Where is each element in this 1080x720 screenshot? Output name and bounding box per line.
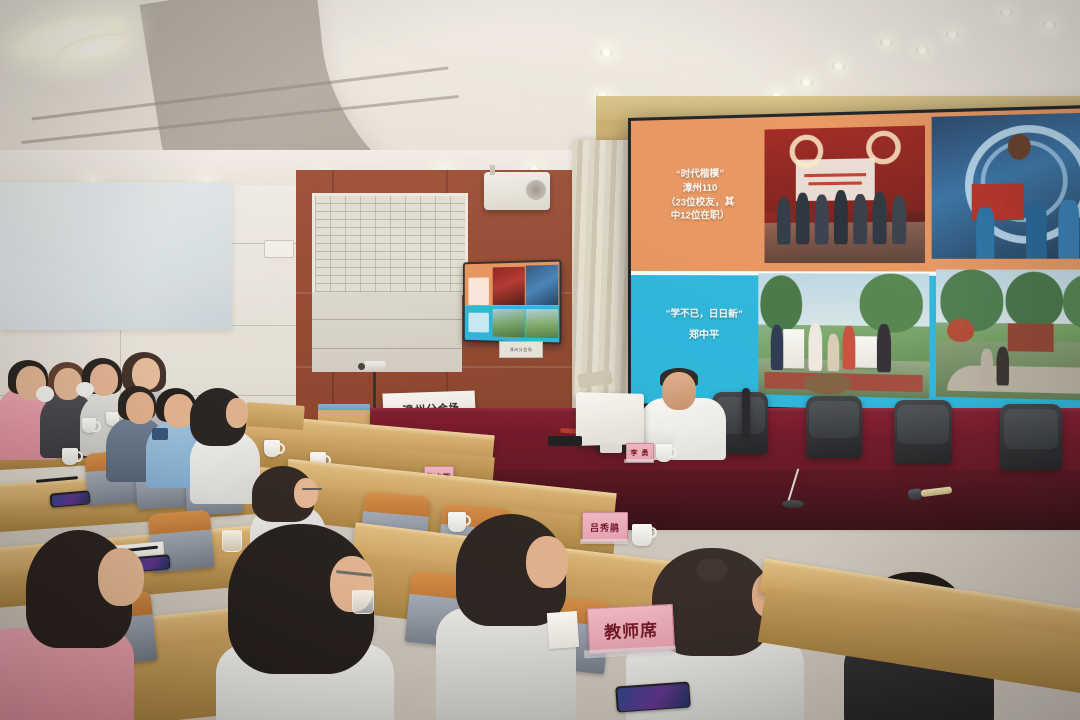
shoulder-badge-icon (152, 428, 168, 440)
smartphone[interactable] (615, 681, 691, 712)
monitor-label: 漳州分会场 (499, 341, 543, 358)
led-top-caption: “时代楷模” 漳州110 （23位校友，其 中12位在职） (645, 167, 756, 224)
tea-cup (62, 448, 78, 465)
tea-cup (632, 524, 652, 546)
led-top-line-1: “时代楷模” (676, 168, 724, 180)
nameplate-stand (580, 539, 628, 544)
downlight (946, 30, 959, 39)
led-bottom-line-1: “学不已，日日新” (666, 308, 743, 320)
downlight (880, 38, 893, 47)
water-glass (222, 530, 242, 552)
desktop-monitor[interactable] (576, 392, 644, 446)
seated-presenter-head (662, 372, 696, 410)
downlight (832, 62, 845, 71)
led-top-line-2: 漳州110 (683, 182, 718, 194)
eyeglasses-icon (302, 488, 322, 490)
lower-wall-panel (312, 292, 462, 372)
projector-lens-icon (526, 180, 546, 200)
window-curtain (572, 140, 630, 410)
presidium-chair[interactable] (806, 396, 862, 458)
presidium-chair[interactable] (1000, 404, 1062, 470)
led-top-line-4: 中12位在职） (671, 210, 730, 222)
water-glass (352, 590, 374, 614)
downlight (1000, 8, 1013, 17)
plaque-unveiling-photo (758, 273, 929, 398)
flag-oath-photo (932, 112, 1080, 259)
wall-mounted-monitor[interactable] (463, 259, 562, 344)
presidium-chair-edge (742, 388, 750, 434)
led-bottom-signature: 郑中平 (645, 328, 765, 344)
wall-socket-plate (264, 240, 294, 258)
tea-cup (656, 444, 672, 462)
nameplate-mid: 吕秀鹃 (582, 512, 628, 542)
presidium-chair[interactable] (894, 400, 952, 464)
conference-room-photo: 漳州分会场 “时代楷模” 漳州110 （23位校友，其 中12位在职） “学不已… (0, 0, 1080, 720)
monitor-stand (600, 443, 622, 453)
acoustic-perforated-panel (312, 193, 468, 295)
desk-divider (245, 402, 305, 430)
paper-sheet (547, 611, 579, 649)
tea-cup (82, 418, 96, 433)
surveillance-camera-icon (364, 361, 386, 372)
face-mask-icon (76, 382, 94, 397)
downlight (600, 48, 613, 57)
keyboard[interactable] (548, 436, 582, 446)
downlight (1043, 20, 1056, 29)
led-bottom-caption: “学不已，日日新” 郑中平 (645, 307, 765, 344)
hair-bun-icon (696, 558, 728, 582)
led-top-line-3: （23位校友，其 (666, 196, 734, 208)
tea-cup (264, 440, 280, 457)
nameplate-stand (624, 459, 654, 463)
face-mask-icon (36, 386, 54, 402)
award-ceremony-photo (765, 125, 925, 263)
downlight (916, 46, 929, 55)
garden-visit-photo (936, 269, 1080, 401)
gooseneck-microphone-base[interactable] (782, 500, 804, 508)
tea-cup (448, 512, 466, 532)
downlight (800, 78, 813, 87)
ceiling-projector (484, 172, 550, 210)
projection-screen-left (0, 182, 232, 330)
